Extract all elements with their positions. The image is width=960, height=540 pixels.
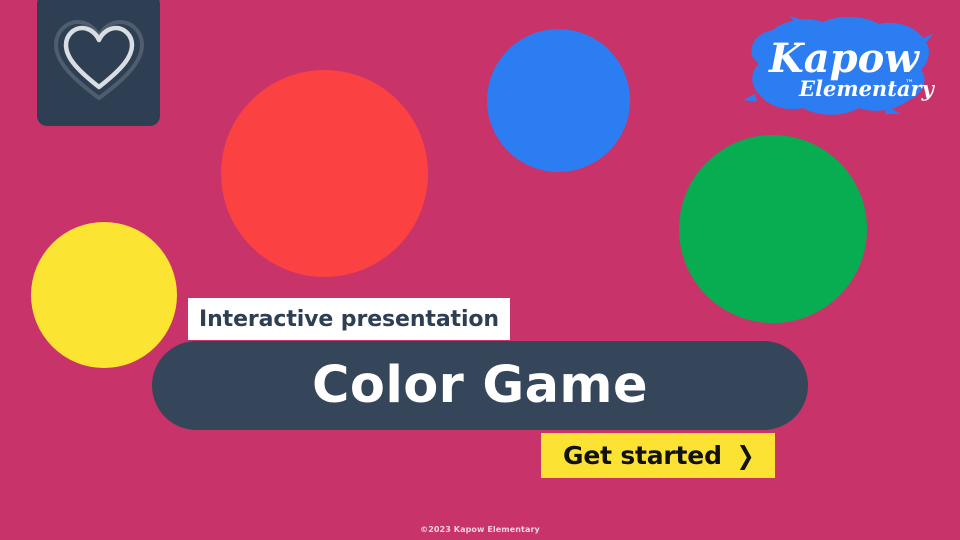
copyright-footer: ©2023 Kapow Elementary — [0, 525, 960, 534]
brand-name-bottom: Elementary — [798, 76, 936, 101]
get-started-button[interactable]: Get started ❯ — [541, 433, 775, 478]
title-pill: Color Game — [152, 341, 808, 430]
blue-circle — [487, 29, 630, 172]
presentation-slide: Kapow Elementary ™ Interactive presentat… — [0, 0, 960, 540]
yellow-circle — [31, 222, 177, 368]
red-circle — [221, 70, 428, 277]
brand-name-top: Kapow — [768, 35, 920, 82]
heart-icon — [51, 16, 147, 104]
kicker-label: Interactive presentation — [188, 298, 510, 340]
green-circle — [679, 135, 867, 323]
page-title: Color Game — [312, 360, 648, 411]
chevron-right-icon: ❯ — [736, 443, 754, 468]
app-tile[interactable] — [37, 0, 160, 126]
brand-trademark: ™ — [905, 79, 914, 89]
get-started-label: Get started — [563, 441, 722, 470]
kapow-elementary-logo: Kapow Elementary ™ — [737, 14, 937, 124]
